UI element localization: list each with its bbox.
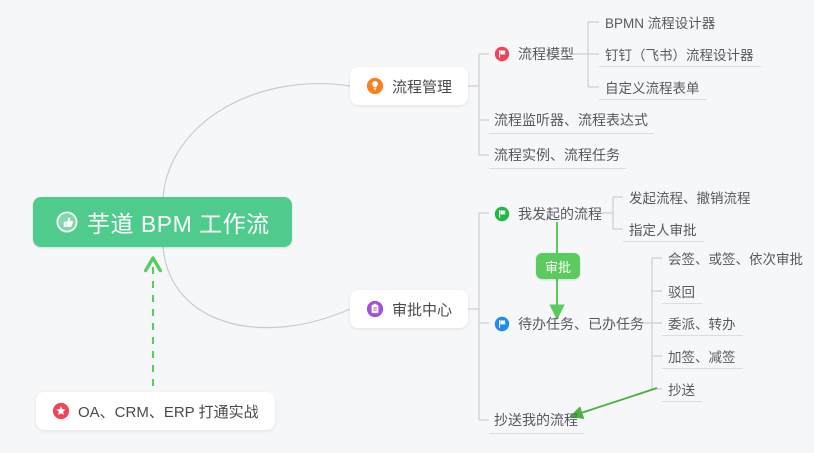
leaf-bpmn-designer[interactable]: BPMN 流程设计器	[599, 9, 722, 35]
leaf-cc[interactable]: 抄送	[662, 376, 702, 402]
clipboard-icon	[366, 300, 384, 318]
node-label: 我发起的流程	[518, 204, 602, 224]
node-todo-done-tasks[interactable]: 待办任务、已办任务	[489, 310, 650, 337]
root-label: 芋道 BPM 工作流	[87, 205, 270, 239]
flag-icon	[494, 316, 510, 332]
mindmap-canvas: 芋道 BPM 工作流 流程管理 流程模型 BPMN 流程设计器 钉钉（飞书）流程	[0, 0, 814, 453]
branch-node-process-management[interactable]: 流程管理	[350, 67, 468, 105]
branch-label: 流程管理	[392, 76, 452, 97]
leaf-label: 发起流程、撤销流程	[629, 187, 751, 207]
leaf-label: 会签、或签、依次审批	[668, 248, 803, 268]
node-label: 流程实例、流程任务	[494, 145, 620, 165]
integration-label: OA、CRM、ERP 打通实战	[78, 401, 259, 422]
node-my-initiated-process[interactable]: 我发起的流程	[489, 200, 608, 227]
node-label: 流程监听器、流程表达式	[494, 110, 648, 130]
leaf-label: 指定人审批	[629, 219, 697, 239]
leaf-delegate-transfer[interactable]: 委派、转办	[662, 310, 743, 336]
leaf-label: 委派、转办	[668, 313, 736, 333]
branch-label: 审批中心	[392, 299, 452, 320]
leaf-label: 驳回	[668, 281, 695, 301]
node-label: 抄送我的流程	[494, 410, 578, 430]
leaf-dingtalk-designer[interactable]: 钉钉（飞书）流程设计器	[599, 41, 761, 67]
leaf-custom-form[interactable]: 自定义流程表单	[599, 74, 707, 100]
approval-flow-badge: 审批	[536, 253, 580, 279]
leaf-start-cancel-process[interactable]: 发起流程、撤销流程	[623, 184, 758, 210]
node-listener-expression[interactable]: 流程监听器、流程表达式	[489, 107, 654, 134]
thumbs-up-icon	[55, 210, 79, 234]
leaf-countersign[interactable]: 会签、或签、依次审批	[662, 245, 810, 271]
lightbulb-pin-icon	[366, 77, 384, 95]
node-cc-to-me-process[interactable]: 抄送我的流程	[489, 407, 584, 434]
leaf-reject[interactable]: 驳回	[662, 278, 702, 304]
leaf-assigned-approval[interactable]: 指定人审批	[623, 216, 704, 242]
node-instance-task[interactable]: 流程实例、流程任务	[489, 142, 626, 169]
integration-node[interactable]: OA、CRM、ERP 打通实战	[36, 392, 275, 430]
badge-label: 审批	[545, 257, 571, 276]
branch-node-approval-center[interactable]: 审批中心	[350, 290, 468, 328]
root-node[interactable]: 芋道 BPM 工作流	[33, 197, 292, 247]
leaf-label: 自定义流程表单	[605, 77, 700, 97]
leaf-label: 加签、减签	[668, 346, 736, 366]
node-label: 流程模型	[518, 44, 574, 64]
leaf-label: 钉钉（飞书）流程设计器	[605, 44, 754, 64]
flag-icon	[494, 206, 510, 222]
leaf-add-remove-sign[interactable]: 加签、减签	[662, 343, 743, 369]
flag-icon	[494, 46, 510, 62]
node-label: 待办任务、已办任务	[518, 314, 644, 334]
node-process-model[interactable]: 流程模型	[489, 40, 580, 67]
star-icon	[52, 402, 70, 420]
leaf-label: 抄送	[668, 379, 695, 399]
leaf-label: BPMN 流程设计器	[605, 12, 715, 32]
